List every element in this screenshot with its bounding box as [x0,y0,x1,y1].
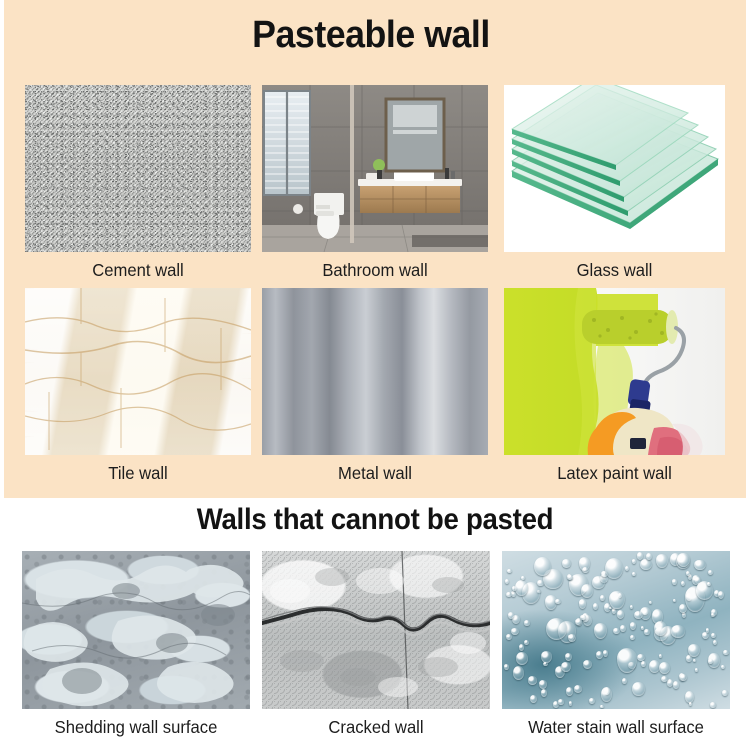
caption-bathroom-wall: Bathroom wall [251,260,500,281]
cement-wall-image [25,85,251,252]
figure-metal-wall: Metal wall [262,288,488,455]
tile-wall-image [25,288,251,455]
latex-paint-wall-image [504,288,725,455]
not-pasteable-section-title: Walls that cannot be pasted [34,503,717,537]
cracked-wall-image [262,551,490,709]
figure-cracked-wall: Cracked wall [262,551,490,709]
bathroom-scene-illustration [262,85,488,252]
crack-overlay [262,551,490,709]
figure-tile-wall: Tile wall [25,288,251,455]
figure-latex-paint-wall: Latex paint wall [504,288,725,455]
infographic-page: Pasteable wall Cement wall [0,0,750,750]
water-droplets [502,551,730,709]
figure-cement-wall: Cement wall [25,85,251,252]
figure-glass-wall: Glass wall [504,85,725,252]
figure-water-stain-wall-surface: Water stain wall surface [502,551,730,709]
glass-sheets-illustration [504,85,725,252]
figure-shedding-wall-surface: Shedding wall surface [22,551,250,709]
caption-water-stain-wall-surface: Water stain wall surface [491,717,742,738]
bathroom-wall-image [262,85,488,252]
peeling-patches-overlay [22,551,250,709]
marble-veins-overlay [25,288,251,455]
paint-roller-illustration [504,288,725,455]
caption-cement-wall: Cement wall [14,260,263,281]
metal-wall-image [262,288,488,455]
caption-metal-wall: Metal wall [251,463,500,484]
caption-cracked-wall: Cracked wall [251,717,502,738]
caption-glass-wall: Glass wall [492,260,736,281]
shedding-wall-surface-image [22,551,250,709]
pasteable-section-title: Pasteable wall [22,14,719,57]
glass-wall-image [504,85,725,252]
caption-tile-wall: Tile wall [14,463,263,484]
caption-shedding-wall-surface: Shedding wall surface [11,717,262,738]
water-stain-wall-surface-image [502,551,730,709]
figure-bathroom-wall: Bathroom wall [262,85,488,252]
caption-latex-paint-wall: Latex paint wall [492,463,736,484]
